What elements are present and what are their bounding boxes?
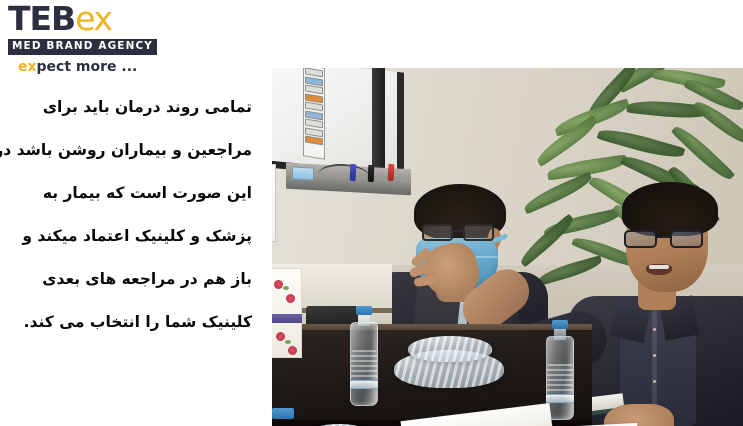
blue-marker [350, 164, 357, 182]
glasses-lens [624, 230, 657, 248]
tagline-accent: ex [18, 59, 37, 75]
body-line: تمامی روند درمان باید برای [0, 86, 252, 129]
mouth [646, 264, 672, 275]
glasses-lens [463, 224, 494, 241]
tagline-rest: pect more ... [37, 59, 138, 75]
logo-wordmark: TEBex [8, 4, 158, 34]
hand [604, 404, 674, 426]
whiteboard-toolbar [303, 68, 325, 160]
logo-tagline: expect more ... [8, 59, 158, 75]
body-line: کلینیک شما را انتخاب می کند. [0, 301, 252, 344]
body-line: مراجعین و بیماران روشن باشد در [0, 129, 252, 172]
brand-logo: TEBex MED BRAND AGENCY expect more ... [8, 4, 158, 75]
glasses-bridge [657, 236, 670, 238]
shirt-button [653, 328, 656, 331]
meeting-photograph [272, 68, 743, 426]
toolbar-icon [305, 135, 323, 145]
body-line: باز هم در مراجعه های بعدی [0, 258, 252, 301]
flower-leaf [285, 340, 291, 344]
photo-scene [272, 68, 743, 426]
flower-leaf [283, 286, 289, 290]
flower-motif [286, 294, 295, 303]
flower-motif [288, 346, 297, 355]
hair [622, 182, 718, 236]
flower-motif [276, 332, 285, 341]
red-marker [388, 164, 395, 182]
wall-poster [272, 164, 276, 242]
bottle-cap [356, 306, 372, 315]
black-marker [368, 165, 375, 182]
logo-wordmark-accent: ex [75, 0, 111, 38]
flower-motif [274, 280, 283, 289]
poster-canvas: TEBex MED BRAND AGENCY expect more ... ت… [0, 0, 743, 426]
logo-wordmark-primary: TEB [8, 0, 75, 38]
body-line: پزشک و کلینیک اعتماد میکند و [0, 215, 252, 258]
bottle-cap-loose [272, 408, 294, 419]
shirt-button [653, 354, 656, 357]
shirt-button [653, 380, 656, 383]
crystal-bowl [408, 336, 492, 362]
blue-card [292, 166, 314, 180]
glasses-lens [422, 224, 453, 241]
glasses-lens [670, 230, 703, 248]
whiteboard-frame [372, 68, 385, 171]
eyeglasses [420, 224, 500, 241]
logo-subtitle-bar: MED BRAND AGENCY [8, 39, 157, 55]
bottle-cap [552, 320, 568, 329]
body-line: این صورت است که بیمار به [0, 172, 252, 215]
tissue-box-band [272, 314, 302, 323]
eyeglasses [624, 230, 710, 248]
body-text-block: تمامی روند درمان باید برای مراجعین و بیم… [0, 86, 262, 344]
